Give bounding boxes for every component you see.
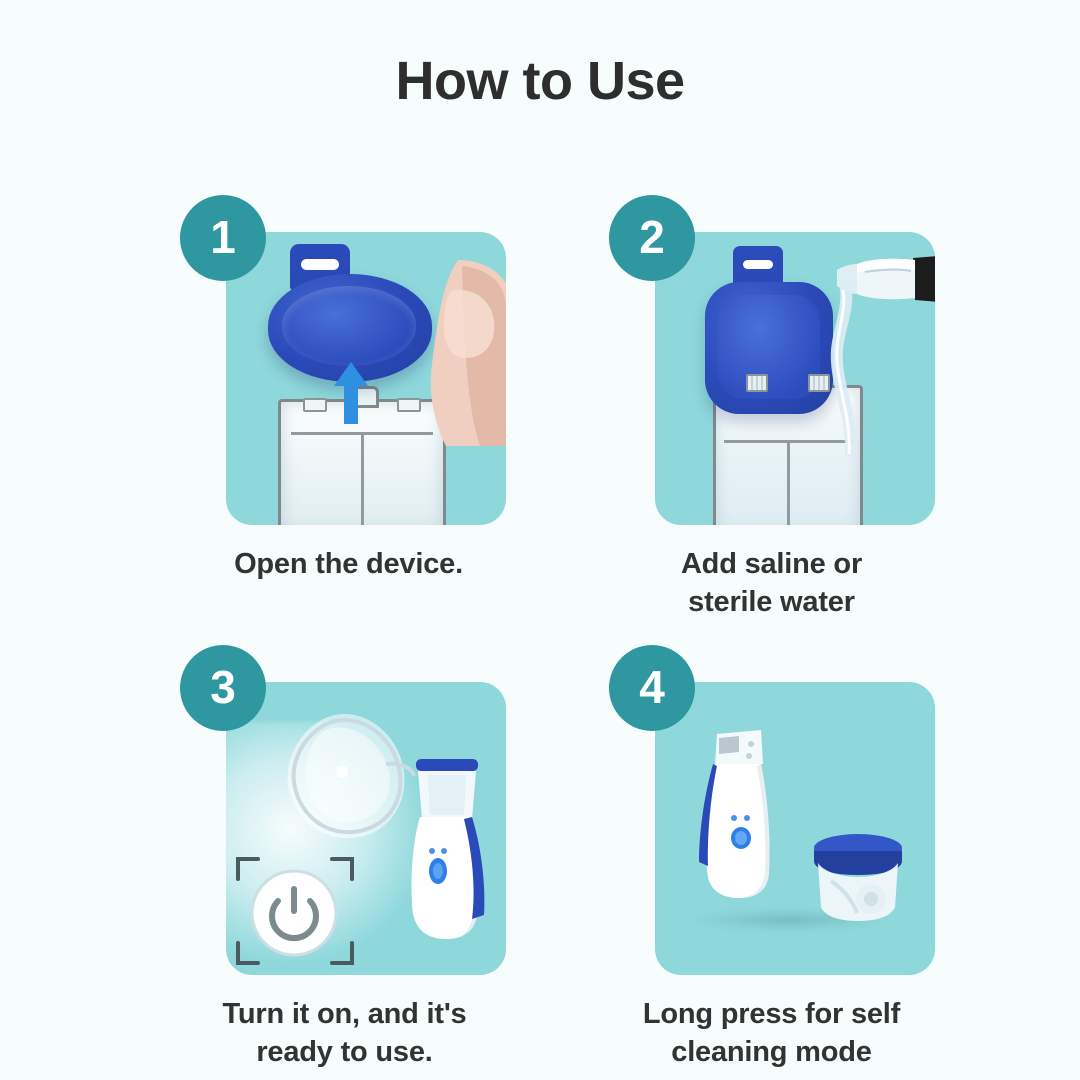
face-mask-icon <box>282 710 416 842</box>
step-item-1: 1 <box>150 195 505 621</box>
how-to-use-infographic: How to Use 1 <box>0 0 1080 1080</box>
page-title: How to Use <box>0 48 1080 114</box>
step-caption-4: Long press for self cleaning mode <box>579 995 934 1071</box>
tank-clip-left-icon <box>303 398 327 412</box>
up-arrow-icon <box>334 362 368 424</box>
lid-inner-icon <box>282 286 416 366</box>
lid-tab-slot-icon <box>301 259 339 270</box>
step-illustration-4 <box>655 682 935 975</box>
step-caption-1: Open the device. <box>150 545 505 583</box>
step-number-badge-3: 3 <box>180 645 266 731</box>
lid-tab-slot-icon <box>743 260 773 269</box>
step-number-3: 3 <box>210 664 236 710</box>
tank-clip-right-icon <box>397 398 421 412</box>
step-number-4: 4 <box>639 664 665 710</box>
step-number-badge-1: 1 <box>180 195 266 281</box>
step-illustration-3 <box>226 682 506 975</box>
finger-icon <box>428 260 506 446</box>
nebulizer-body-icon <box>699 730 777 902</box>
blue-lid-open-icon <box>705 282 833 414</box>
lid-inner-icon <box>718 295 820 399</box>
step-caption-2: Add saline or sterile water <box>579 545 934 621</box>
tank-hinge-left-icon <box>746 374 768 392</box>
step-item-2: 2 <box>579 195 934 621</box>
power-button-icon[interactable] <box>248 867 340 959</box>
nebulizer-icon <box>398 759 494 943</box>
steps-grid: 1 <box>150 195 940 1071</box>
step-item-3: 3 <box>150 645 505 1071</box>
step-illustration-1 <box>226 232 506 525</box>
step-number-1: 1 <box>210 214 236 260</box>
step-caption-3: Turn it on, and it's ready to use. <box>150 995 505 1071</box>
step-number-badge-2: 2 <box>609 195 695 281</box>
medication-cup-icon <box>809 831 907 923</box>
step-number-badge-4: 4 <box>609 645 695 731</box>
step-illustration-2 <box>655 232 935 525</box>
step-item-4: 4 <box>579 645 934 1071</box>
water-stream-icon <box>823 284 869 456</box>
step-number-2: 2 <box>639 214 665 260</box>
